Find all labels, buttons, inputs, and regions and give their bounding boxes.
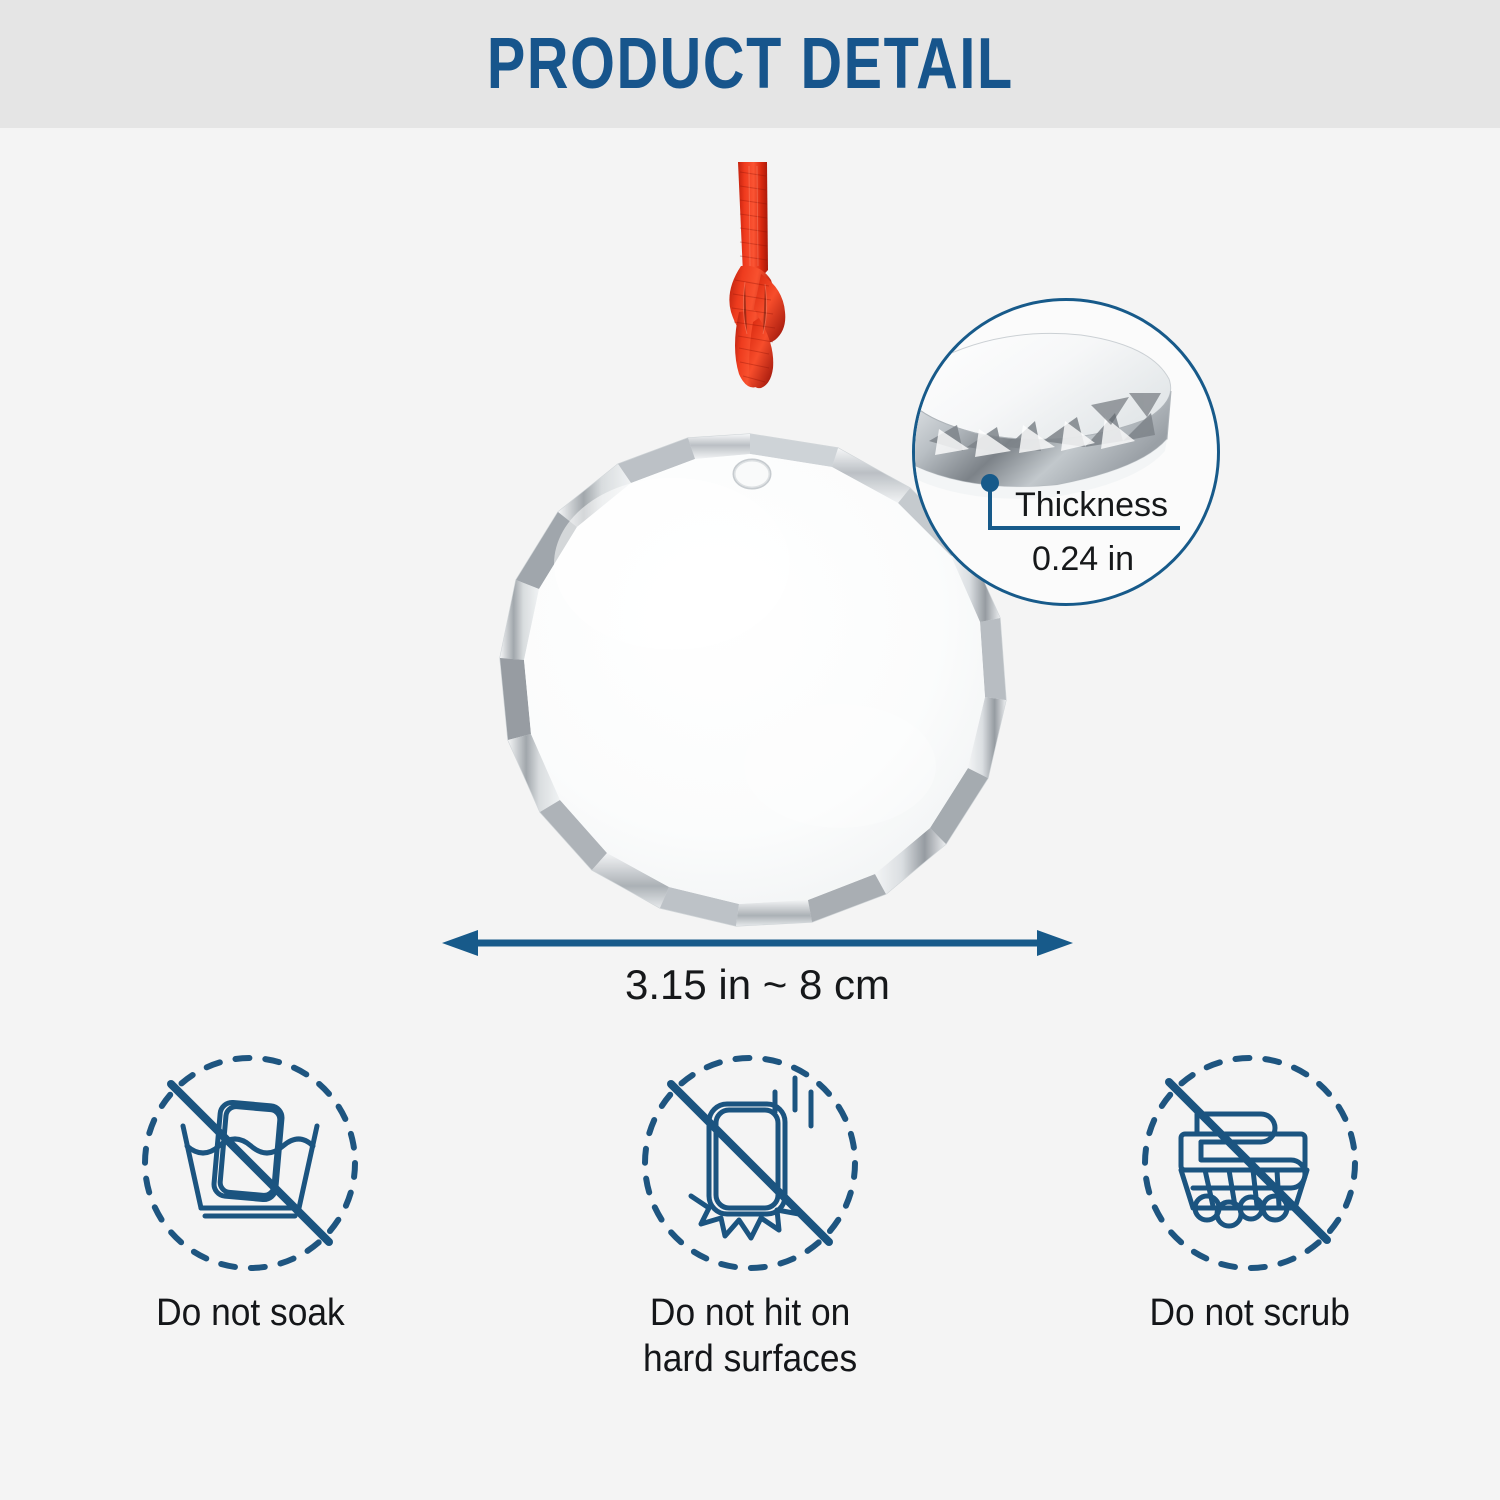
care-item-no-scrub: Do not scrub bbox=[1040, 1048, 1460, 1336]
width-dimension: 3.15 in ~ 8 cm bbox=[440, 923, 1090, 1033]
product-stage: Thickness 0.24 in 3.15 in ~ 8 cm bbox=[0, 128, 1500, 1500]
care-instructions-row: Do not soak Do not hit on har bbox=[0, 1048, 1500, 1448]
double-headed-width-arrow-icon bbox=[440, 923, 1090, 963]
care-item-no-soak: Do not soak bbox=[40, 1048, 460, 1336]
thickness-label: Thickness bbox=[1015, 486, 1168, 525]
width-dimension-label: 3.15 in ~ 8 cm bbox=[440, 961, 1075, 1009]
page-title: PRODUCT DETAIL bbox=[487, 28, 1014, 100]
no-scrub-icon bbox=[1135, 1048, 1365, 1278]
care-label-no-scrub: Do not scrub bbox=[1150, 1290, 1350, 1336]
thickness-value: 0.24 in bbox=[1032, 540, 1134, 579]
care-label-no-soak: Do not soak bbox=[156, 1290, 345, 1336]
no-impact-icon bbox=[635, 1048, 865, 1278]
thickness-callout: Thickness 0.24 in bbox=[912, 298, 1224, 610]
page-header: PRODUCT DETAIL bbox=[0, 0, 1500, 128]
no-soak-icon bbox=[135, 1048, 365, 1278]
care-label-no-impact: Do not hit on hard surfaces bbox=[643, 1290, 857, 1383]
care-item-no-impact: Do not hit on hard surfaces bbox=[540, 1048, 960, 1383]
